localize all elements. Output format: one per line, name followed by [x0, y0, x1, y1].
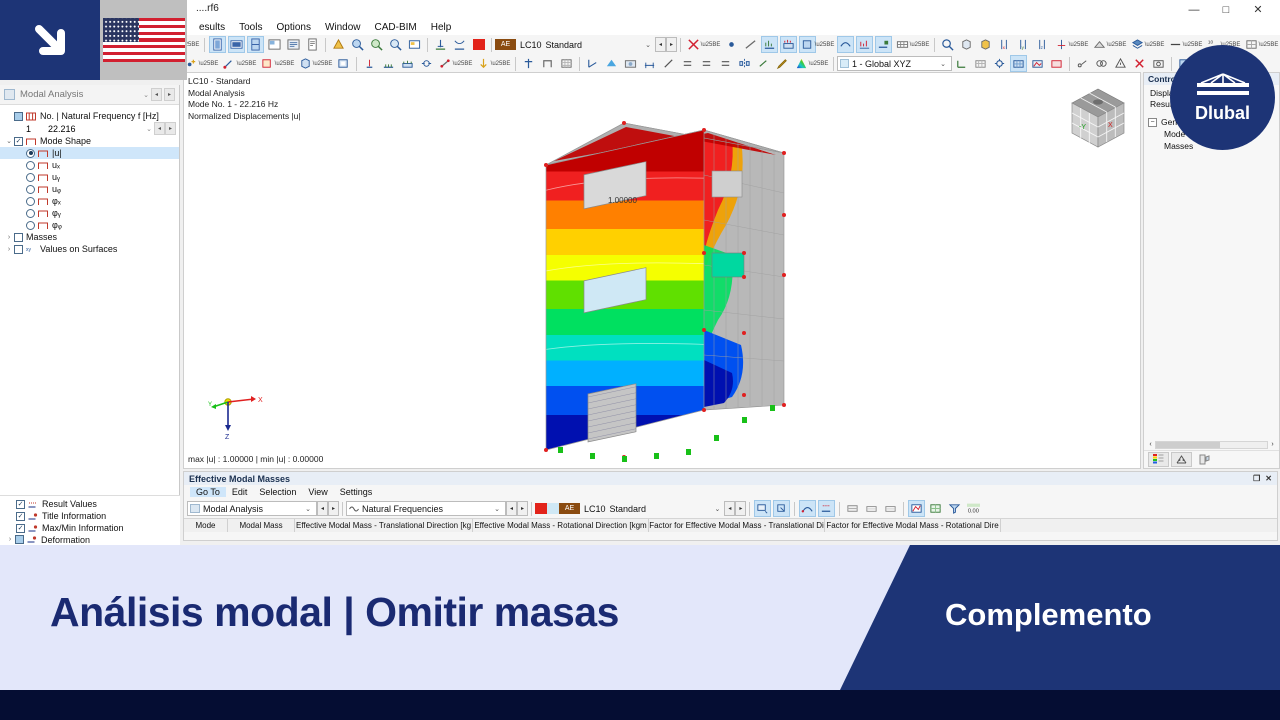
- select-object-icon[interactable]: [939, 36, 956, 53]
- table-lc-chevron-down-icon[interactable]: ⌄: [715, 505, 721, 513]
- table-select-objects-icon[interactable]: [773, 500, 790, 517]
- table-color-swatch-blue[interactable]: [547, 503, 559, 514]
- caret-icon[interactable]: \u25BE: [704, 36, 721, 53]
- tree-row-masses[interactable]: › Masses: [0, 231, 179, 243]
- analysis-type-value: Modal Analysis: [203, 504, 263, 514]
- table-3d-view-icon[interactable]: [927, 500, 944, 517]
- caret-icon[interactable]: \u25BE: [316, 55, 333, 72]
- section-view-icon[interactable]: [1091, 36, 1108, 53]
- tree-row-title-information[interactable]: ✓ Title Information: [0, 510, 180, 522]
- model-3d-viewport[interactable]: LC10 - Standard Modal Analysis Mode No. …: [183, 72, 1141, 469]
- mode-shape-expand-icon[interactable]: ⌄: [4, 137, 14, 145]
- caret-icon[interactable]: \u25BE: [1072, 36, 1089, 53]
- deform-display-icon[interactable]: [837, 36, 854, 53]
- toolbar-separator: [1069, 57, 1070, 71]
- menu-item-help[interactable]: Help: [424, 20, 459, 35]
- new-surface-icon[interactable]: [259, 55, 276, 72]
- scroll-track[interactable]: [1155, 441, 1268, 449]
- tree-row-component-u[interactable]: |u|: [0, 147, 179, 159]
- component-u-radio[interactable]: [26, 149, 35, 158]
- result-chevron-down-icon[interactable]: ⌄: [491, 505, 503, 513]
- new-line-icon[interactable]: [221, 55, 238, 72]
- caret-icon[interactable]: \u25BE: [1262, 36, 1279, 53]
- node-icon[interactable]: [723, 36, 740, 53]
- values-on-surfaces-label: Values on Surfaces: [40, 244, 117, 254]
- grid-icon[interactable]: [558, 55, 575, 72]
- surface-results-icon[interactable]: [780, 36, 797, 53]
- load-case-code: LC10: [520, 40, 542, 50]
- general-expand-icon[interactable]: −: [1148, 118, 1157, 127]
- toolbar-separator: [427, 38, 428, 52]
- rigid-link-icon[interactable]: [437, 55, 454, 72]
- deformation-icon: [27, 535, 37, 544]
- navigator-header: Modal Analysis ⌄ ◂ ▸: [0, 85, 179, 105]
- table-panel-title-bar: Effective Modal Masses ❐ ✕: [184, 472, 1277, 485]
- zoom-out-icon[interactable]: [387, 36, 404, 53]
- toolbar-separator: [531, 502, 532, 516]
- axis-triad: X Y Z: [208, 392, 268, 440]
- banner-title: Análisis modal | Omitir masas: [50, 589, 619, 636]
- table-export-icon[interactable]: [844, 500, 861, 517]
- intersect-icon[interactable]: [1093, 55, 1110, 72]
- minimize-icon[interactable]: —: [1178, 0, 1210, 19]
- wave-icon: [349, 504, 359, 513]
- masses-label: Masses: [26, 232, 57, 242]
- frequency-table-icon: [26, 112, 36, 121]
- result-type-value: Natural Frequencies: [362, 504, 443, 514]
- dlubal-logo: Dlubal: [1170, 45, 1275, 150]
- frequency-next-button[interactable]: ▸: [165, 122, 176, 135]
- table-panel-title: Effective Modal Masses: [189, 474, 290, 484]
- table-lc-next-button[interactable]: ▸: [735, 501, 746, 516]
- navigator-title: Modal Analysis: [20, 89, 83, 100]
- svg-text:z: z: [1041, 45, 1044, 50]
- frequency-row-1[interactable]: 1 22.216 ⌄ ◂ ▸: [0, 122, 179, 135]
- layers-icon[interactable]: [1129, 36, 1146, 53]
- analysis-chevron-down-icon[interactable]: ⌄: [302, 505, 314, 513]
- arrow-down-right-icon: [25, 15, 75, 65]
- control-panel-footer: ‹ ›: [1144, 439, 1279, 468]
- table-filter-icon[interactable]: [946, 500, 963, 517]
- tree-row-component-ux[interactable]: uₓ: [0, 159, 179, 171]
- tree-row-deformation[interactable]: › Deformation: [0, 534, 180, 545]
- line-support-icon[interactable]: [380, 55, 397, 72]
- navcube-label-negy: -Y: [1079, 124, 1086, 131]
- scroll-left-icon[interactable]: ‹: [1146, 441, 1155, 448]
- delete-icon[interactable]: [1131, 55, 1148, 72]
- component-icon: [38, 173, 48, 182]
- table-deformation-icon[interactable]: [799, 500, 816, 517]
- render-transparent-icon[interactable]: [247, 36, 264, 53]
- zoom-window-icon[interactable]: [406, 36, 423, 53]
- align-icon[interactable]: [679, 55, 696, 72]
- table-close-icon[interactable]: ✕: [1265, 474, 1272, 483]
- align2-icon[interactable]: [698, 55, 715, 72]
- component-icon: [38, 161, 48, 170]
- component-icon: [38, 185, 48, 194]
- table-lc-prev-button[interactable]: ◂: [724, 501, 735, 516]
- zoom-in-icon[interactable]: [349, 36, 366, 53]
- effective-modal-masses-panel: Effective Modal Masses ❐ ✕ Go To Edit Se…: [183, 471, 1278, 541]
- navigator-prev-button[interactable]: ◂: [151, 88, 162, 101]
- table-menu-view[interactable]: View: [302, 487, 333, 497]
- mirror-icon[interactable]: [736, 55, 753, 72]
- document-icon[interactable]: [304, 36, 321, 53]
- zoom-all-icon[interactable]: [368, 36, 385, 53]
- result-prev-button[interactable]: ◂: [506, 501, 517, 516]
- deformation-checkbox[interactable]: [15, 535, 24, 544]
- table-menu-edit[interactable]: Edit: [226, 487, 254, 497]
- overlay-language-flag: [100, 0, 187, 80]
- tree-row-mode-shape[interactable]: ⌄ ✓ Mode Shape: [0, 135, 179, 147]
- tree-row-component-phiz[interactable]: φᵩ: [0, 219, 179, 231]
- surface-support-icon[interactable]: [399, 55, 416, 72]
- load-case-name: Standard: [546, 40, 646, 50]
- caret-icon[interactable]: \u25BE: [812, 55, 829, 72]
- axis-label-x: X: [258, 397, 263, 404]
- dimension-icon[interactable]: [641, 55, 658, 72]
- delete-result-icon[interactable]: [685, 36, 702, 53]
- line-icon[interactable]: [742, 36, 759, 53]
- building-mode-shape-model[interactable]: 1.00000: [536, 105, 796, 465]
- analysis-type-combo[interactable]: Modal Analysis ⌄: [187, 501, 317, 516]
- component-icon: [38, 149, 48, 158]
- component-label: uᵧ: [52, 172, 60, 182]
- maxmin-info-label: Max/Min Information: [42, 523, 124, 533]
- rotate-icon[interactable]: [755, 55, 772, 72]
- view-y-icon[interactable]: y: [1015, 36, 1032, 53]
- toolbar-separator: [491, 38, 492, 52]
- frame-icon[interactable]: [539, 55, 556, 72]
- caret-icon[interactable]: \u25BE: [202, 55, 219, 72]
- component-uz-radio[interactable]: [26, 185, 35, 194]
- table-toolbar: Modal Analysis ⌄ ◂ ▸ Natural Frequencies…: [184, 499, 1277, 518]
- svg-text:xy: xy: [26, 247, 32, 253]
- table-decimals-icon[interactable]: 0.00: [965, 500, 982, 517]
- table-chart-icon[interactable]: [908, 500, 925, 517]
- measure-icon[interactable]: [1074, 55, 1091, 72]
- results-navigator: Modal Analysis ⌄ ◂ ▸ No. | Natural Frequ…: [0, 85, 180, 545]
- tree-row-maxmin-information[interactable]: ✓ Max/Min Information: [0, 522, 180, 534]
- frequency-value: 22.216: [48, 124, 76, 134]
- pencil-icon[interactable]: [774, 55, 791, 72]
- tree-row-result-values[interactable]: ✓ Result Values: [0, 498, 180, 510]
- caret-icon[interactable]: \u25BE: [1148, 36, 1165, 53]
- dlubal-mark-icon: [1195, 72, 1251, 102]
- masses-label: Masses: [1164, 141, 1193, 151]
- title-info-label: Title Information: [42, 511, 106, 521]
- new-solid-icon[interactable]: [297, 55, 314, 72]
- navcube-label-x: X: [1108, 122, 1113, 129]
- title-information-icon: [28, 512, 38, 521]
- toolbar-separator: [579, 57, 580, 71]
- view-navigation-cube[interactable]: -Y X: [1058, 81, 1136, 155]
- component-label: |u|: [52, 148, 62, 158]
- coordinate-system-icon[interactable]: [953, 55, 970, 72]
- component-label: φᵧ: [52, 208, 61, 218]
- caret-icon[interactable]: \u25BE: [913, 36, 930, 53]
- axis-system-chevron-down-icon[interactable]: ⌄: [937, 60, 949, 68]
- deformation-icon[interactable]: [451, 36, 468, 53]
- toolbar-separator: [680, 38, 681, 52]
- table-values-icon[interactable]: [818, 500, 835, 517]
- masses-collapse-icon[interactable]: ›: [4, 234, 14, 241]
- menu-item-window[interactable]: Window: [318, 20, 368, 35]
- frequency-chevron-down-icon[interactable]: ⌄: [146, 125, 154, 133]
- load-icon[interactable]: [475, 55, 492, 72]
- deformation-label: Deformation: [41, 535, 90, 545]
- result-type-combo[interactable]: Natural Frequencies ⌄: [346, 501, 506, 516]
- axis-label-z: Z: [225, 434, 230, 440]
- svg-text:10: 10: [1208, 40, 1214, 45]
- component-label: φᵩ: [52, 220, 62, 230]
- load-case-prev-button[interactable]: ◂: [655, 37, 666, 52]
- table-col-factor-rotational[interactable]: Factor for Effective Modal Mass - Rotati…: [825, 519, 1001, 532]
- tree-row-component-uy[interactable]: uᵧ: [0, 171, 179, 183]
- view-x-icon[interactable]: x: [996, 36, 1013, 53]
- printout-report-icon[interactable]: [285, 36, 302, 53]
- table-col-factor-translational[interactable]: Factor for Effective Modal Mass - Transl…: [649, 519, 825, 532]
- toolbar-separator: [515, 57, 516, 71]
- angle-icon[interactable]: [584, 55, 601, 72]
- max-min-info-label: max |u| : 1.00000 | min |u| : 0.00000: [188, 454, 323, 464]
- load-case-next-button[interactable]: ▸: [666, 37, 677, 52]
- toolbar-separator: [839, 502, 840, 516]
- component-label: φₓ: [52, 196, 61, 206]
- table-menu-selection[interactable]: Selection: [253, 487, 302, 497]
- navigator-display-options: ✓ Result Values ✓ Title Information ✓ Ma…: [0, 495, 180, 545]
- analysis-next-button[interactable]: ▸: [328, 501, 339, 516]
- render-results-icon[interactable]: [330, 36, 347, 53]
- table-color-swatch[interactable]: [535, 503, 547, 514]
- snap-node-icon[interactable]: [520, 55, 537, 72]
- nodal-support-icon[interactable]: [361, 55, 378, 72]
- component-phiz-radio[interactable]: [26, 221, 35, 230]
- tree-row-component-phix[interactable]: φₓ: [0, 195, 179, 207]
- mesh-icon[interactable]: [972, 55, 989, 72]
- axis-system-combo[interactable]: 1 - Global XYZ ⌄: [837, 56, 952, 71]
- toolbar-separator: [342, 502, 343, 516]
- tree-row-natural-frequency[interactable]: No. | Natural Frequency f [Hz]: [0, 110, 179, 122]
- component-icon: [38, 209, 48, 218]
- maximize-icon[interactable]: □: [1210, 0, 1242, 19]
- menu-item-results[interactable]: esults: [192, 20, 232, 35]
- print-preview-icon[interactable]: [266, 36, 283, 53]
- toolbar-separator: [794, 502, 795, 516]
- table-menu-settings[interactable]: Settings: [334, 487, 379, 497]
- toolbar-separator: [204, 38, 205, 52]
- banner-subtitle: Complemento: [945, 597, 1152, 633]
- toolbar-separator: [356, 57, 357, 71]
- tree-row-values-on-surfaces[interactable]: › xy Values on Surfaces: [0, 243, 179, 255]
- caret-icon[interactable]: \u25BE: [1110, 36, 1127, 53]
- toolbar-separator: [934, 38, 935, 52]
- menu-bar: esults Tools Options Window CAD-BIM Help: [180, 20, 1280, 35]
- diagram-display-icon[interactable]: [856, 36, 873, 53]
- overlay-arrow-badge: [0, 0, 100, 80]
- navigator-chevron-down-icon[interactable]: ⌄: [143, 91, 149, 99]
- align3-icon[interactable]: [717, 55, 734, 72]
- view-render-icon[interactable]: [977, 36, 994, 53]
- show-mesh-icon[interactable]: [1010, 55, 1027, 72]
- table-col-modal-mass[interactable]: Modal Mass: [228, 519, 295, 532]
- control-panel-scrollbar[interactable]: ‹ ›: [1144, 439, 1279, 450]
- model-value-label: 1.00000: [608, 196, 637, 205]
- member-results-icon[interactable]: [761, 36, 778, 53]
- new-opening-icon[interactable]: [335, 55, 352, 72]
- colorscale-icon[interactable]: [603, 55, 620, 72]
- info-line-analysis: Modal Analysis: [188, 88, 301, 100]
- info-line-load-case: LC10 - Standard: [188, 76, 301, 88]
- table-load-case-code: LC10: [584, 504, 606, 514]
- result-values-label: Result Values: [42, 499, 97, 509]
- maxmin-information-icon: [28, 524, 38, 533]
- load-case-chevron-down-icon[interactable]: ⌄: [645, 41, 651, 49]
- toolbar-separator: [903, 502, 904, 516]
- filter-tab-icon[interactable]: [1194, 452, 1215, 467]
- table-load-case-badge: AE: [559, 503, 580, 514]
- table-insert-row-icon[interactable]: [863, 500, 880, 517]
- component-uy-radio[interactable]: [26, 173, 35, 182]
- scroll-right-icon[interactable]: ›: [1268, 441, 1277, 448]
- member-hinge-icon[interactable]: [418, 55, 435, 72]
- toolbar-secondary: \u25BE \u25BE \u25BE \u25BE \u25BE \u25B…: [180, 54, 1280, 73]
- mode-shape-checkbox[interactable]: ✓: [14, 137, 23, 146]
- line-style-icon[interactable]: [1167, 36, 1184, 53]
- masses-checkbox[interactable]: [14, 233, 23, 242]
- camera-icon[interactable]: [1150, 55, 1167, 72]
- result-info-block: LC10 - Standard Modal Analysis Mode No. …: [188, 76, 301, 122]
- result-values-icon: [28, 500, 38, 509]
- table-select-rows-icon[interactable]: [754, 500, 771, 517]
- svg-text:y: y: [1022, 45, 1025, 50]
- maxmin-info-checkbox[interactable]: ✓: [16, 524, 25, 533]
- menu-item-options[interactable]: Options: [269, 20, 317, 35]
- info-line-result: Normalized Displacements |u|: [188, 111, 301, 123]
- values-on-surfaces-icon: xy: [26, 245, 36, 254]
- colorpalette-icon[interactable]: [793, 55, 810, 72]
- component-ux-radio[interactable]: [26, 161, 35, 170]
- natural-frequency-checkbox[interactable]: [14, 112, 23, 121]
- window-controls: — □ ✕: [1178, 0, 1274, 19]
- view-3d-icon[interactable]: [958, 36, 975, 53]
- table-col-mode[interactable]: Mode: [184, 519, 228, 532]
- banner-footer-bar: [0, 690, 1280, 720]
- analysis-icon: [190, 504, 200, 513]
- load-case-badge: AE: [495, 39, 516, 50]
- caret-icon[interactable]: \u25BE: [278, 55, 295, 72]
- tree-row-component-phiy[interactable]: φᵧ: [0, 207, 179, 219]
- toolbar-separator: [749, 502, 750, 516]
- dlubal-wordmark: Dlubal: [1195, 103, 1250, 124]
- svg-text:0.00: 0.00: [968, 509, 979, 515]
- title-bar: ....rf6 — □ ✕ Online License 40 | Stefan…: [180, 0, 1280, 20]
- photo-icon[interactable]: [622, 55, 639, 72]
- menu-item-cadbim[interactable]: CAD-BIM: [368, 20, 424, 35]
- component-phix-radio[interactable]: [26, 197, 35, 206]
- table-col-eff-modal-mass-translational[interactable]: Effective Modal Mass - Translational Dir…: [295, 519, 473, 532]
- toolbar-separator: [1171, 57, 1172, 71]
- us-flag-icon: [103, 18, 185, 62]
- rfem-application-window: ....rf6 — □ ✕ Online License 40 | Stefan…: [0, 0, 1280, 545]
- component-phiy-radio[interactable]: [26, 209, 35, 218]
- table-menu-bar: Go To Edit Selection View Settings: [184, 485, 1277, 499]
- axis-label-y: Y: [208, 402, 212, 408]
- render-solid-icon[interactable]: [209, 36, 226, 53]
- component-label: uᵩ: [52, 184, 61, 194]
- toolbar-primary: \u25BE AE LC10 Standard ⌄ ◂ ▸ \u25BE \u2…: [180, 35, 1280, 54]
- scroll-thumb[interactable]: [1156, 442, 1220, 448]
- mesh-refine-icon[interactable]: [1048, 55, 1065, 72]
- mesh-quality-icon[interactable]: [1029, 55, 1046, 72]
- caret-icon[interactable]: \u25BE: [456, 55, 473, 72]
- component-label: uₓ: [52, 160, 60, 170]
- component-icon: [38, 221, 48, 230]
- caret-icon[interactable]: \u25BE: [818, 36, 835, 53]
- frequency-prev-button[interactable]: ◂: [154, 122, 165, 135]
- svg-text:x: x: [1003, 45, 1006, 50]
- close-icon[interactable]: ✕: [1242, 0, 1274, 19]
- toolbar-separator: [833, 57, 834, 71]
- frequency-number: 1: [26, 124, 48, 134]
- table-menu-goto[interactable]: Go To: [190, 487, 226, 497]
- values-collapse-icon[interactable]: ›: [4, 246, 14, 253]
- title-info-checkbox[interactable]: ✓: [16, 512, 25, 521]
- color-red-swatch[interactable]: [470, 36, 487, 53]
- result-next-button[interactable]: ▸: [517, 501, 528, 516]
- color-scale-tab-icon[interactable]: [1148, 452, 1169, 467]
- component-icon: [38, 197, 48, 206]
- render-wireframe-icon[interactable]: [228, 36, 245, 53]
- info-line-mode: Mode No. 1 - 22.216 Hz: [188, 99, 301, 111]
- tree-row-component-uz[interactable]: uᵩ: [0, 183, 179, 195]
- table-results-icon[interactable]: [894, 36, 911, 53]
- support-reactions-icon[interactable]: [432, 36, 449, 53]
- menu-item-tools[interactable]: Tools: [232, 20, 269, 35]
- table-load-case-name: Standard: [610, 504, 715, 514]
- deformation-collapse-icon[interactable]: ›: [5, 536, 15, 543]
- table-delete-row-icon[interactable]: [882, 500, 899, 517]
- toolbar-separator: [325, 38, 326, 52]
- analysis-prev-button[interactable]: ◂: [317, 501, 328, 516]
- display-factors-tab-icon[interactable]: [1171, 452, 1192, 467]
- values-checkbox[interactable]: [14, 245, 23, 254]
- warning-icon[interactable]: [1112, 55, 1129, 72]
- axis-system-icon: [840, 59, 849, 68]
- solid-results-icon[interactable]: [799, 36, 816, 53]
- caret-icon[interactable]: \u25BE: [240, 55, 257, 72]
- axis-system-value: 1 - Global XYZ: [852, 59, 911, 69]
- table-col-eff-modal-mass-rotational[interactable]: Effective Modal Mass - Rotational Direct…: [473, 519, 649, 532]
- navigator-icon: [4, 89, 15, 100]
- mode-shape-icon: [26, 137, 36, 146]
- result-values-icon[interactable]: [875, 36, 892, 53]
- video-title-banner: Análisis modal | Omitir masas Complement…: [0, 545, 1280, 720]
- caret-icon[interactable]: \u25BE: [494, 55, 511, 72]
- mode-shape-label: Mode Shape: [40, 136, 91, 146]
- result-values-checkbox[interactable]: ✓: [16, 500, 25, 509]
- table-float-icon[interactable]: ❐: [1253, 474, 1260, 483]
- view-xyz-icon[interactable]: [1053, 36, 1070, 53]
- document-title: ....rf6: [196, 3, 219, 14]
- table-column-headers: Mode Modal Mass Effective Modal Mass - T…: [184, 518, 1277, 532]
- view-z-icon[interactable]: z: [1034, 36, 1051, 53]
- slash-icon[interactable]: [660, 55, 677, 72]
- navigator-next-button[interactable]: ▸: [164, 88, 175, 101]
- mesh-settings-icon[interactable]: [991, 55, 1008, 72]
- natural-frequency-label: No. | Natural Frequency f [Hz]: [40, 111, 159, 121]
